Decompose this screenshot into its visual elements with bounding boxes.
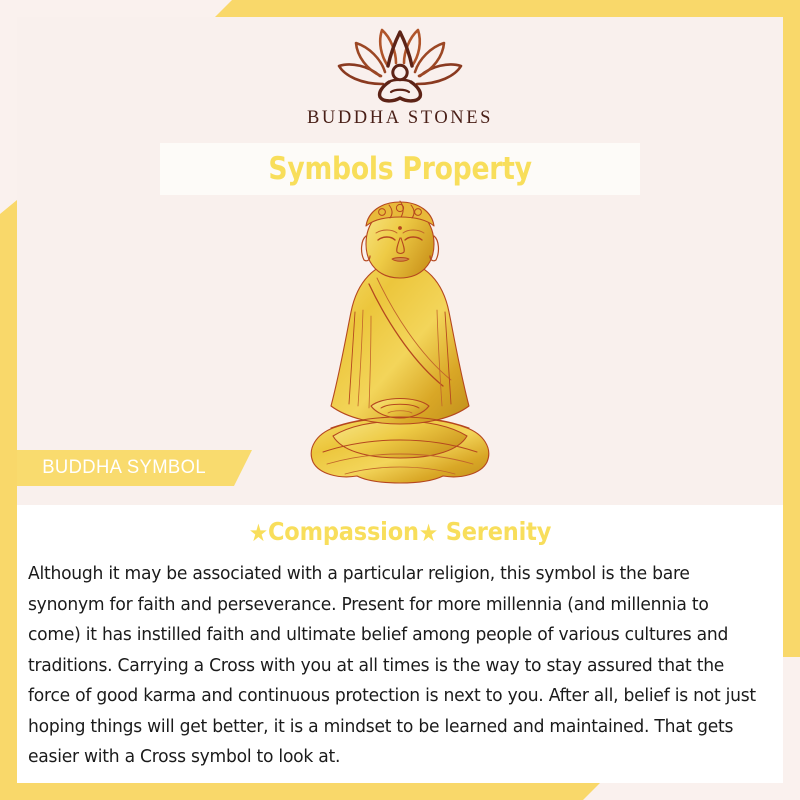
lotus-meditation-icon bbox=[325, 22, 475, 104]
decor-bottom-bar bbox=[0, 783, 600, 800]
poster-root: BUDDHA STONES Symbols Property bbox=[0, 0, 800, 800]
buddha-symbol-tag-label: BUDDHA SYMBOL bbox=[20, 457, 206, 479]
title-banner: Symbols Property bbox=[160, 143, 640, 195]
attribute-compassion: Compassion bbox=[268, 517, 419, 546]
page-title: Symbols Property bbox=[268, 151, 531, 187]
description-paragraph: Although it may be associated with a par… bbox=[28, 559, 761, 773]
decor-top-bar bbox=[215, 0, 800, 17]
buddha-symbol-tag: BUDDHA SYMBOL bbox=[17, 450, 252, 486]
star-icon: ★ bbox=[419, 519, 438, 547]
content-card: ★Compassion★ Serenity Although it may be… bbox=[17, 505, 783, 783]
seated-buddha-statue-icon bbox=[293, 200, 508, 495]
star-icon: ★ bbox=[249, 519, 268, 547]
attribute-serenity: Serenity bbox=[446, 517, 552, 546]
attributes-headline: ★Compassion★ Serenity bbox=[55, 517, 744, 547]
brand-logo: BUDDHA STONES bbox=[0, 22, 800, 129]
brand-name: BUDDHA STONES bbox=[0, 108, 800, 129]
